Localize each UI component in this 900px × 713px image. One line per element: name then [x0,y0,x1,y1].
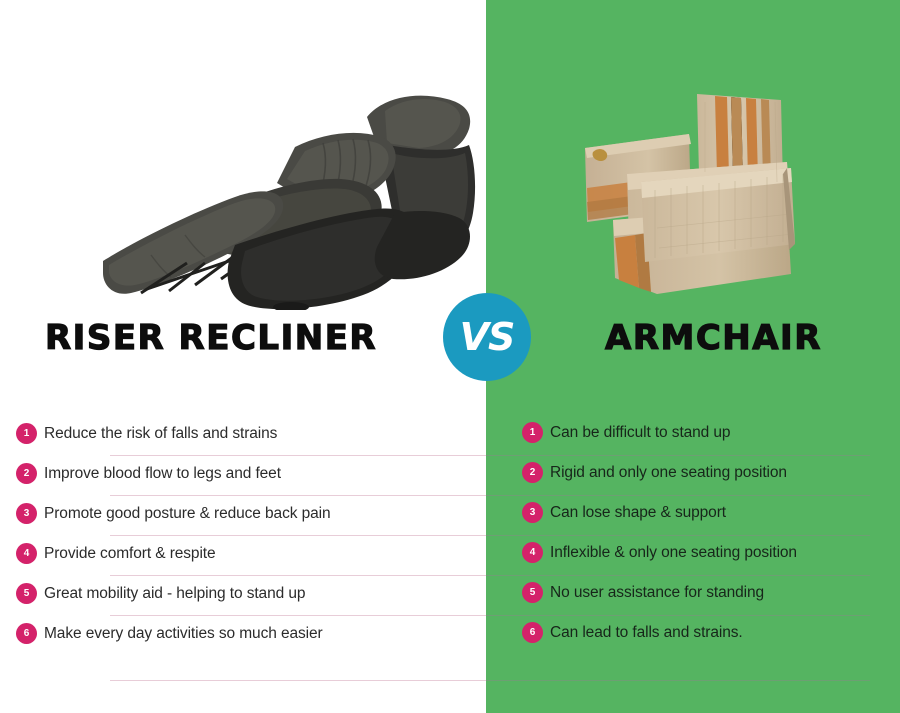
vs-badge-label: VS [460,318,515,356]
list-item: 1 Can be difficult to stand up [486,418,900,458]
row-divider [486,615,870,616]
list-item-label: Promote good posture & reduce back pain [44,505,330,523]
list-item-number: 2 [16,463,37,484]
row-divider [486,535,870,536]
list-item-number: 3 [16,503,37,524]
row-divider [110,495,486,496]
row-divider [486,495,870,496]
list-item-number: 6 [16,623,37,644]
list-item-number: 1 [16,423,37,444]
list-item-number: 3 [522,502,543,523]
left-benefits-list: 1 Reduce the risk of falls and strains 2… [0,418,486,658]
list-item-label: Can lose shape & support [550,504,726,522]
list-item: 3 Promote good posture & reduce back pai… [0,498,486,538]
list-item-label: No user assistance for standing [550,584,764,602]
list-item-label: Great mobility aid - helping to stand up [44,585,305,603]
vs-badge: VS [443,293,531,381]
list-item-label: Reduce the risk of falls and strains [44,425,277,443]
list-item-label: Rigid and only one seating position [550,464,787,482]
bottom-divider-right [486,680,870,681]
row-divider [486,455,870,456]
list-item: 6 Can lead to falls and strains. [486,618,900,658]
list-item-number: 6 [522,622,543,643]
list-item-number: 1 [522,422,543,443]
row-divider [110,575,486,576]
row-divider [110,615,486,616]
list-item-number: 4 [16,543,37,564]
list-item: 4 Provide comfort & respite [0,538,486,578]
list-item: 4 Inflexible & only one seating position [486,538,900,578]
row-divider [110,455,486,456]
list-item: 6 Make every day activities so much easi… [0,618,486,658]
infographic-canvas: RISER RECLINER ARMCHAIR VS 1 Reduce the … [0,0,900,713]
list-item: 2 Improve blood flow to legs and feet [0,458,486,498]
list-item-number: 5 [16,583,37,604]
left-product-title: RISER RECLINER [45,318,377,358]
list-item-label: Can lead to falls and strains. [550,624,743,642]
list-item: 5 Great mobility aid - helping to stand … [0,578,486,618]
list-item: 2 Rigid and only one seating position [486,458,900,498]
bottom-divider-left [110,680,486,681]
riser-recliner-image [95,85,490,310]
list-item-label: Provide comfort & respite [44,545,216,563]
row-divider [486,575,870,576]
list-item: 1 Reduce the risk of falls and strains [0,418,486,458]
list-item-label: Improve blood flow to legs and feet [44,465,281,483]
list-item-label: Can be difficult to stand up [550,424,730,442]
list-item-label: Make every day activities so much easier [44,625,323,643]
list-item-label: Inflexible & only one seating position [550,544,797,562]
right-drawbacks-list: 1 Can be difficult to stand up 2 Rigid a… [486,418,900,658]
list-item: 3 Can lose shape & support [486,498,900,538]
armchair-image [565,78,827,310]
row-divider [110,535,486,536]
list-item: 5 No user assistance for standing [486,578,900,618]
list-item-number: 2 [522,462,543,483]
right-product-title: ARMCHAIR [605,318,822,358]
list-item-number: 5 [522,582,543,603]
list-item-number: 4 [522,542,543,563]
